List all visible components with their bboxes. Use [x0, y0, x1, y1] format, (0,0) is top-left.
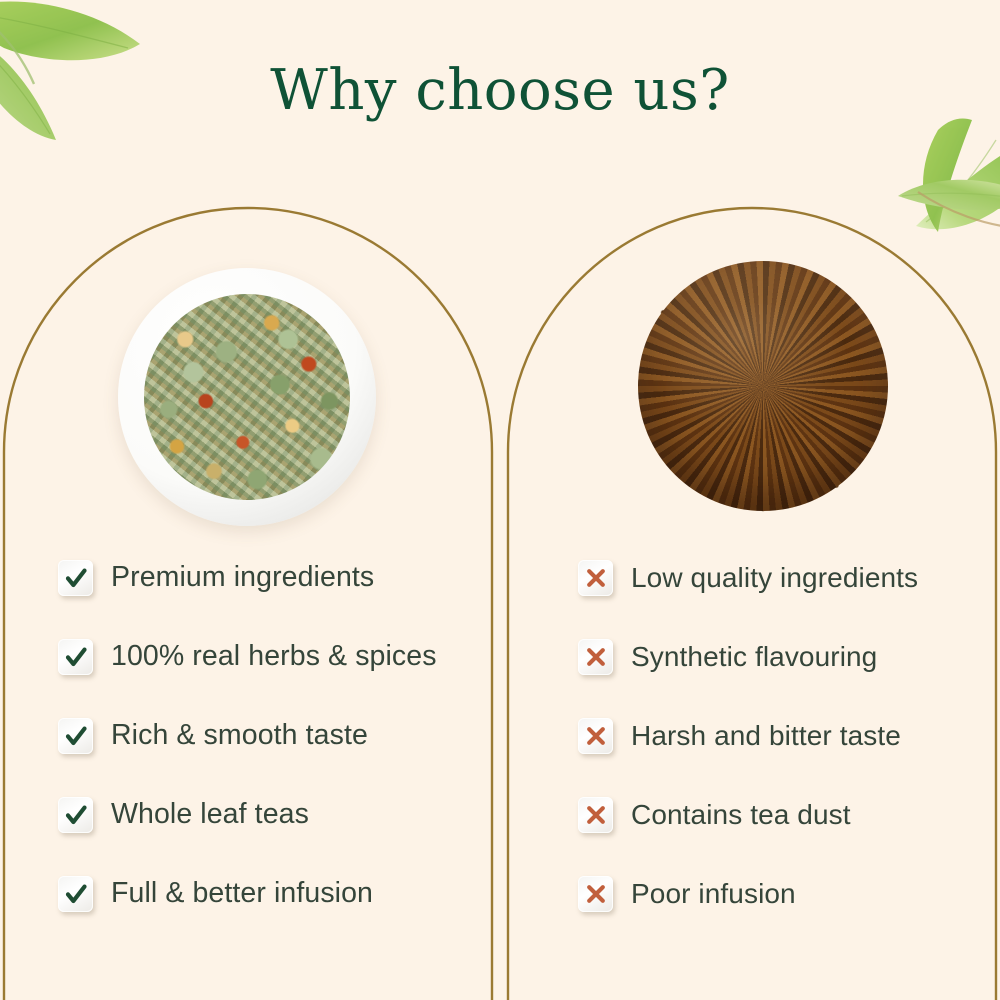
- list-item: Harsh and bitter taste: [578, 696, 1000, 775]
- list-item-label: Poor infusion: [631, 878, 796, 910]
- herbal-tea-bowl-image: [0, 255, 500, 555]
- tea-dust-pile-image: [500, 255, 1000, 555]
- list-item-label: Harsh and bitter taste: [631, 720, 901, 752]
- list-item-label: Contains tea dust: [631, 799, 851, 831]
- list-item-label: Whole leaf teas: [111, 798, 309, 831]
- list-item-label: Full & better infusion: [111, 877, 373, 910]
- good-feature-list: Premium ingredients 100% real herbs & sp…: [0, 538, 500, 933]
- list-item: Poor infusion: [578, 854, 1000, 933]
- list-item: Whole leaf teas: [58, 775, 500, 854]
- tea-bowl: [118, 268, 376, 526]
- list-item: 100% real herbs & spices: [58, 617, 500, 696]
- bad-feature-list: Low quality ingredients Synthetic flavou…: [500, 538, 1000, 933]
- cross-icon: [578, 797, 613, 833]
- list-item-label: 100% real herbs & spices: [111, 640, 437, 673]
- tea-dust-mound: [638, 261, 888, 511]
- list-item-label: Rich & smooth taste: [111, 719, 368, 752]
- list-item-label: Premium ingredients: [111, 561, 374, 594]
- good-column: Premium ingredients 100% real herbs & sp…: [0, 200, 500, 1000]
- list-item: Contains tea dust: [578, 775, 1000, 854]
- page-title: Why choose us?: [0, 58, 1000, 123]
- check-icon: [58, 560, 93, 596]
- list-item: Rich & smooth taste: [58, 696, 500, 775]
- cross-icon: [578, 639, 613, 675]
- bad-column: Low quality ingredients Synthetic flavou…: [500, 200, 1000, 1000]
- check-icon: [58, 718, 93, 754]
- cross-icon: [578, 718, 613, 754]
- check-icon: [58, 797, 93, 833]
- list-item: Full & better infusion: [58, 854, 500, 933]
- check-icon: [58, 876, 93, 912]
- cross-icon: [578, 876, 613, 912]
- cross-icon: [578, 560, 613, 596]
- check-icon: [58, 639, 93, 675]
- list-item-label: Synthetic flavouring: [631, 641, 877, 673]
- list-item: Low quality ingredients: [578, 538, 1000, 617]
- tea-blend-contents: [144, 294, 350, 500]
- why-choose-us-infographic: Why choose us? Premium ingredients 100% …: [0, 0, 1000, 1000]
- list-item: Premium ingredients: [58, 538, 500, 617]
- list-item: Synthetic flavouring: [578, 617, 1000, 696]
- list-item-label: Low quality ingredients: [631, 562, 918, 594]
